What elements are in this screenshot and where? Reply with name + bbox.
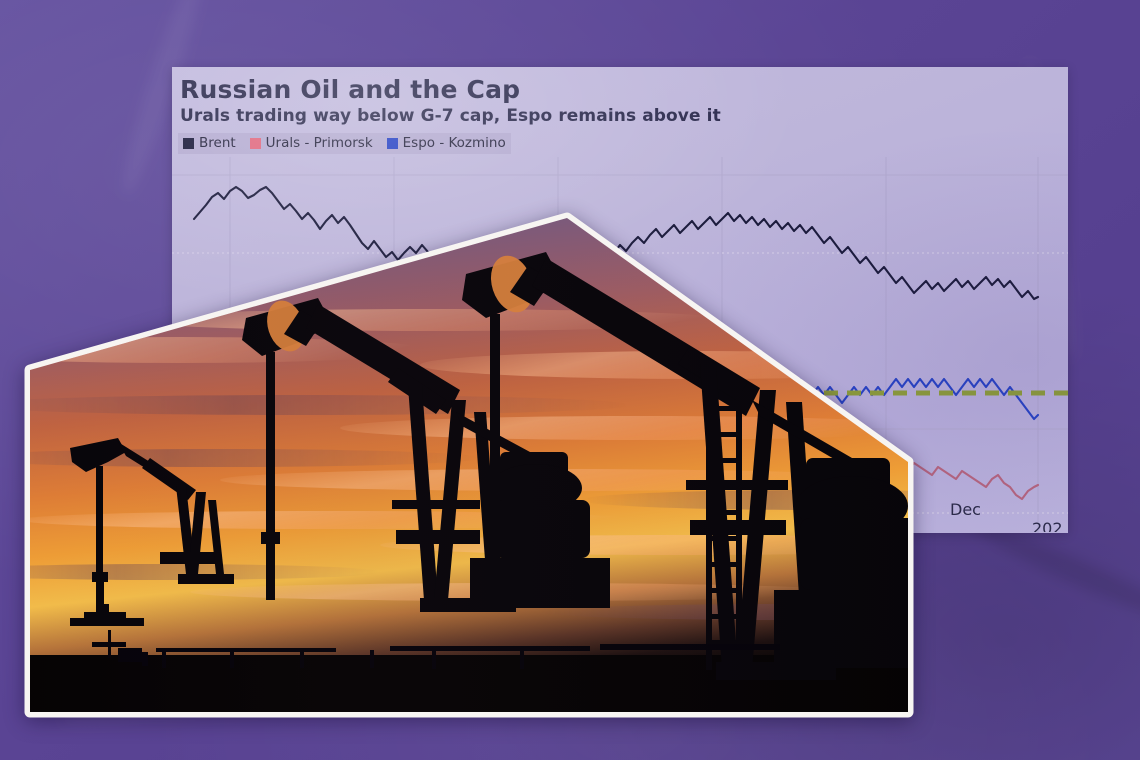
legend-swatch-espo-kozmino [387, 138, 398, 149]
legend-label-urals-primorsk: Urals - Primorsk [266, 135, 373, 151]
legend-swatch-urals-primorsk [250, 138, 261, 149]
chart-subtitle: Urals trading way below G-7 cap, Espo re… [180, 106, 721, 126]
legend-item-urals-primorsk[interactable]: Urals - Primorsk [250, 135, 373, 151]
chart-legend: Brent Urals - Primorsk Espo - Kozmino [178, 133, 511, 154]
x-axis-year-label: 202 [1032, 519, 1063, 532]
legend-label-espo-kozmino: Espo - Kozmino [403, 135, 506, 151]
photo-svg [0, 200, 930, 730]
legend-swatch-brent [183, 138, 194, 149]
legend-label-brent: Brent [199, 135, 236, 151]
photo-container [0, 200, 930, 730]
legend-item-espo-kozmino[interactable]: Espo - Kozmino [387, 135, 506, 151]
chart-title: Russian Oil and the Cap [180, 75, 520, 104]
x-axis-tick-dec: Dec [950, 500, 981, 519]
photo-image [0, 200, 930, 730]
legend-item-brent[interactable]: Brent [183, 135, 236, 151]
photo-shade [0, 200, 930, 730]
